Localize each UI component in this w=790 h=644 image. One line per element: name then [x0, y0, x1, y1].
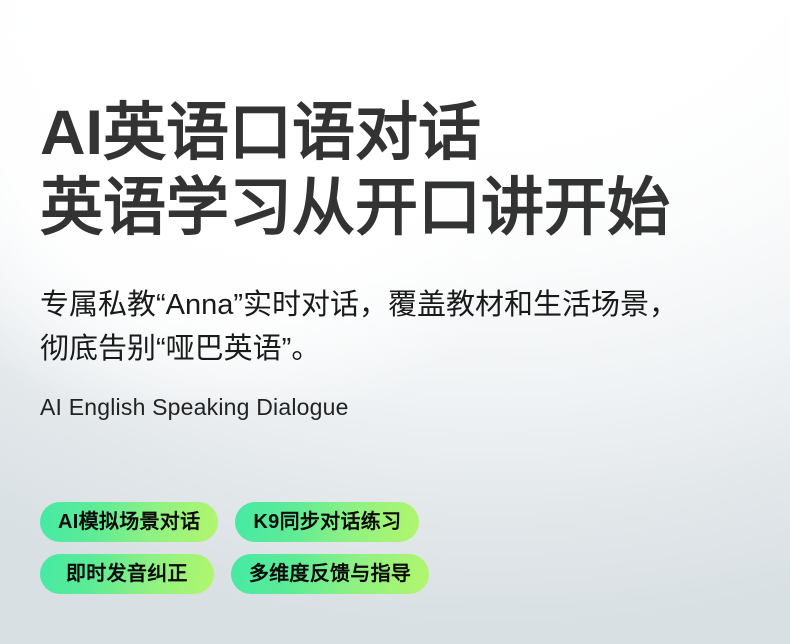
page-title: AI英语口语对话 英语学习从开口讲开始: [40, 96, 670, 246]
feature-tag-pronunciation-correction[interactable]: 即时发音纠正: [40, 554, 214, 594]
feature-tag-scenario-dialogue[interactable]: AI模拟场景对话: [40, 502, 218, 542]
subtitle-line-2: 彻底告别“哑巴英语”。: [40, 327, 678, 371]
feature-tag-multidimensional-feedback[interactable]: 多维度反馈与指导: [231, 554, 429, 594]
feature-tag-list: AI模拟场景对话 K9同步对话练习 即时发音纠正 多维度反馈与指导: [40, 502, 470, 594]
feature-tag-k9-practice[interactable]: K9同步对话练习: [235, 502, 419, 542]
subtitle-line-1: 专属私教“Anna”实时对话，覆盖教材和生活场景，: [40, 283, 678, 327]
english-caption: AI English Speaking Dialogue: [40, 392, 349, 422]
promo-poster: AI英语口语对话 英语学习从开口讲开始 专属私教“Anna”实时对话，覆盖教材和…: [0, 0, 790, 644]
headline-line-2: 英语学习从开口讲开始: [40, 171, 670, 246]
subtitle: 专属私教“Anna”实时对话，覆盖教材和生活场景， 彻底告别“哑巴英语”。: [40, 283, 678, 371]
headline-line-1: AI英语口语对话: [40, 96, 670, 171]
